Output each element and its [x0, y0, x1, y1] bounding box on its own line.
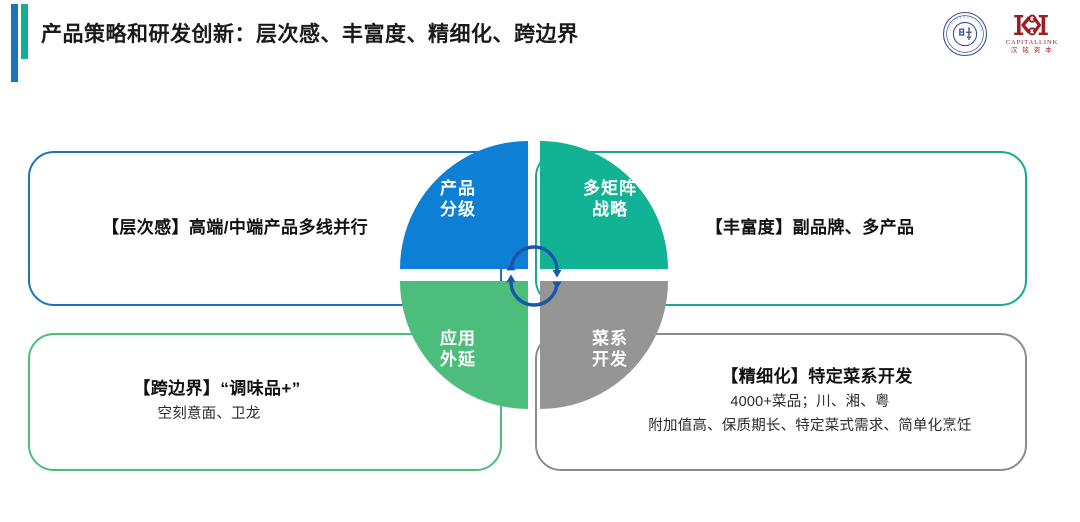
capitallink-name-cn: 汉 铭 资 本 [998, 47, 1066, 55]
quadrant-application-extension-line2: 外延 [440, 350, 476, 371]
svg-text:A: A [978, 25, 982, 28]
svg-text:A: A [967, 16, 969, 19]
card-cross-border-subtitle: 空刻意面、卫龙 [158, 404, 261, 426]
capitallink-logo-icon: CAPITALLINK 汉 铭 资 本 [998, 12, 1066, 64]
card-refinement-subtitle-2: 附加值高、保质期长、特定菜式需求、简单化烹饪 [648, 416, 971, 438]
title-accent-bars [11, 4, 33, 82]
university-seal-icon: S H A N G H A I J I A O [942, 11, 988, 57]
svg-text:I: I [970, 18, 972, 20]
quadrant-application-extension[interactable]: 应用 外延 [400, 281, 528, 409]
quadrant-cuisine-development-line2: 开发 [592, 350, 628, 371]
page-header: 产品策略和研发创新：层次感、丰富度、精细化、跨边界 [0, 0, 1080, 88]
page-title: 产品策略和研发创新：层次感、丰富度、精细化、跨边界 [41, 18, 579, 48]
card-cross-border-title: 【跨边界】“调味品+” [133, 378, 300, 401]
logo-group: S H A N G H A I J I A O [940, 8, 1070, 68]
quadrant-cuisine-development-line1: 菜系 [592, 329, 628, 350]
quadrant-multi-matrix[interactable]: 多矩阵 战略 [540, 141, 668, 269]
svg-text:O: O [979, 29, 981, 31]
svg-text:H: H [964, 17, 966, 19]
quadrant-product-grading-line1: 产品 [440, 179, 476, 200]
capitallink-name: CAPITALLINK [998, 39, 1066, 46]
card-refinement-title: 【精细化】特定菜系开发 [721, 366, 912, 389]
svg-text:J: J [974, 21, 976, 23]
card-refinement-subtitle-1: 4000+菜品；川、湘、粤 [730, 392, 889, 414]
quadrant-cuisine-development[interactable]: 菜系 开发 [540, 281, 668, 409]
quadrant-multi-matrix-line2: 战略 [592, 200, 628, 221]
svg-text:G: G [960, 17, 962, 19]
quadrant-application-extension-line1: 应用 [440, 329, 476, 350]
strategy-diagram: 【层次感】高端/中端产品多线并行 【丰富度】副品牌、多产品 【跨边界】“调味品+… [0, 88, 1080, 522]
svg-text:N: N [957, 18, 960, 21]
accent-bar-blue [11, 4, 18, 82]
card-richness-title: 【丰富度】副品牌、多产品 [706, 217, 915, 240]
quadrant-product-grading-line2: 分级 [440, 200, 476, 221]
accent-bar-teal [21, 4, 28, 59]
quadrant-multi-matrix-line1: 多矩阵 [583, 179, 637, 200]
card-layering-title: 【层次感】高端/中端产品多线并行 [102, 217, 368, 240]
quadrant-wheel: 产品 分级 多矩阵 战略 应用 外延 菜系 开发 [400, 141, 668, 409]
svg-text:I: I [976, 23, 978, 25]
quadrant-product-grading[interactable]: 产品 分级 [400, 141, 528, 269]
